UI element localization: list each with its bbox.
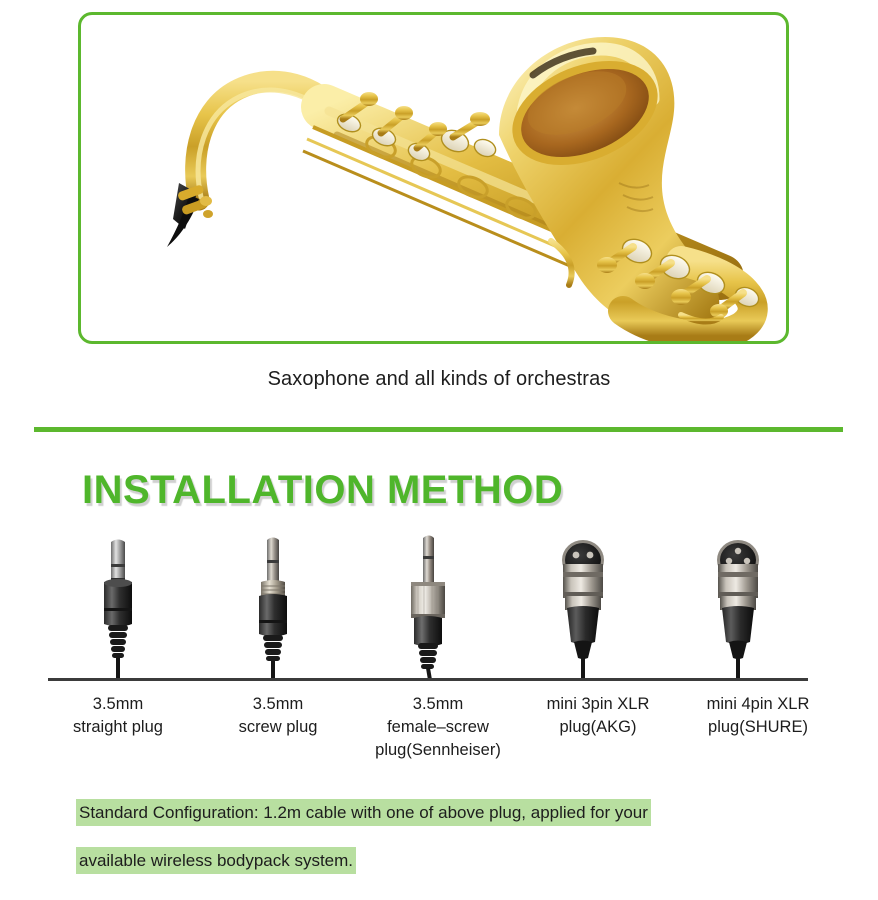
plug-mini-3pin-xlr-image [513, 530, 653, 680]
saxophone-image [81, 15, 786, 341]
plug-label-line: 3.5mm [368, 693, 508, 716]
plug-illustration-row [48, 530, 830, 680]
hero-image-frame [78, 12, 789, 344]
plug-label-line: mini 3pin XLR [528, 693, 668, 716]
note-line-1: Standard Configuration: 1.2m cable with … [76, 799, 651, 826]
plug-label-line: straight plug [48, 716, 188, 739]
plug-label-mini-4pin-xlr: mini 4pin XLR plug(SHURE) [688, 693, 828, 762]
label-gap [188, 693, 208, 762]
plug-label-line: screw plug [208, 716, 348, 739]
plug-label-35mm-straight: 3.5mm straight plug [48, 693, 188, 762]
plug-label-35mm-female-screw: 3.5mm female–screw plug(Sennheiser) [368, 693, 508, 762]
plug-label-line: plug(AKG) [528, 716, 668, 739]
plug-label-line: female–screw [368, 716, 508, 739]
plug-mini-4pin-xlr-image [668, 530, 808, 680]
label-gap [348, 693, 368, 762]
note-line-2: available wireless bodypack system. [76, 847, 356, 874]
note-row: Standard Configuration: 1.2m cable with … [76, 793, 816, 833]
plug-35mm-screw-image [203, 530, 343, 680]
section-divider [34, 427, 843, 432]
hero-caption: Saxophone and all kinds of orchestras [0, 368, 878, 391]
note-row: available wireless bodypack system. [76, 841, 816, 881]
plug-label-line: plug(Sennheiser) [368, 739, 508, 762]
standard-configuration-note: Standard Configuration: 1.2m cable with … [76, 793, 816, 889]
plug-label-line: plug(SHURE) [688, 716, 828, 739]
page-title: INSTALLATION METHOD [82, 468, 563, 513]
saxophone-illustration [81, 15, 786, 341]
label-gap [668, 693, 688, 762]
plug-label-row: 3.5mm straight plug 3.5mm screw plug 3.5… [48, 693, 830, 762]
plug-label-35mm-screw: 3.5mm screw plug [208, 693, 348, 762]
label-gap [508, 693, 528, 762]
plug-baseline [48, 678, 808, 681]
plug-35mm-female-screw-image [358, 530, 498, 680]
plug-label-mini-3pin-xlr: mini 3pin XLR plug(AKG) [528, 693, 668, 762]
plug-label-line: 3.5mm [48, 693, 188, 716]
plug-label-line: mini 4pin XLR [688, 693, 828, 716]
plug-label-line: 3.5mm [208, 693, 348, 716]
plug-35mm-straight-image [48, 530, 188, 680]
